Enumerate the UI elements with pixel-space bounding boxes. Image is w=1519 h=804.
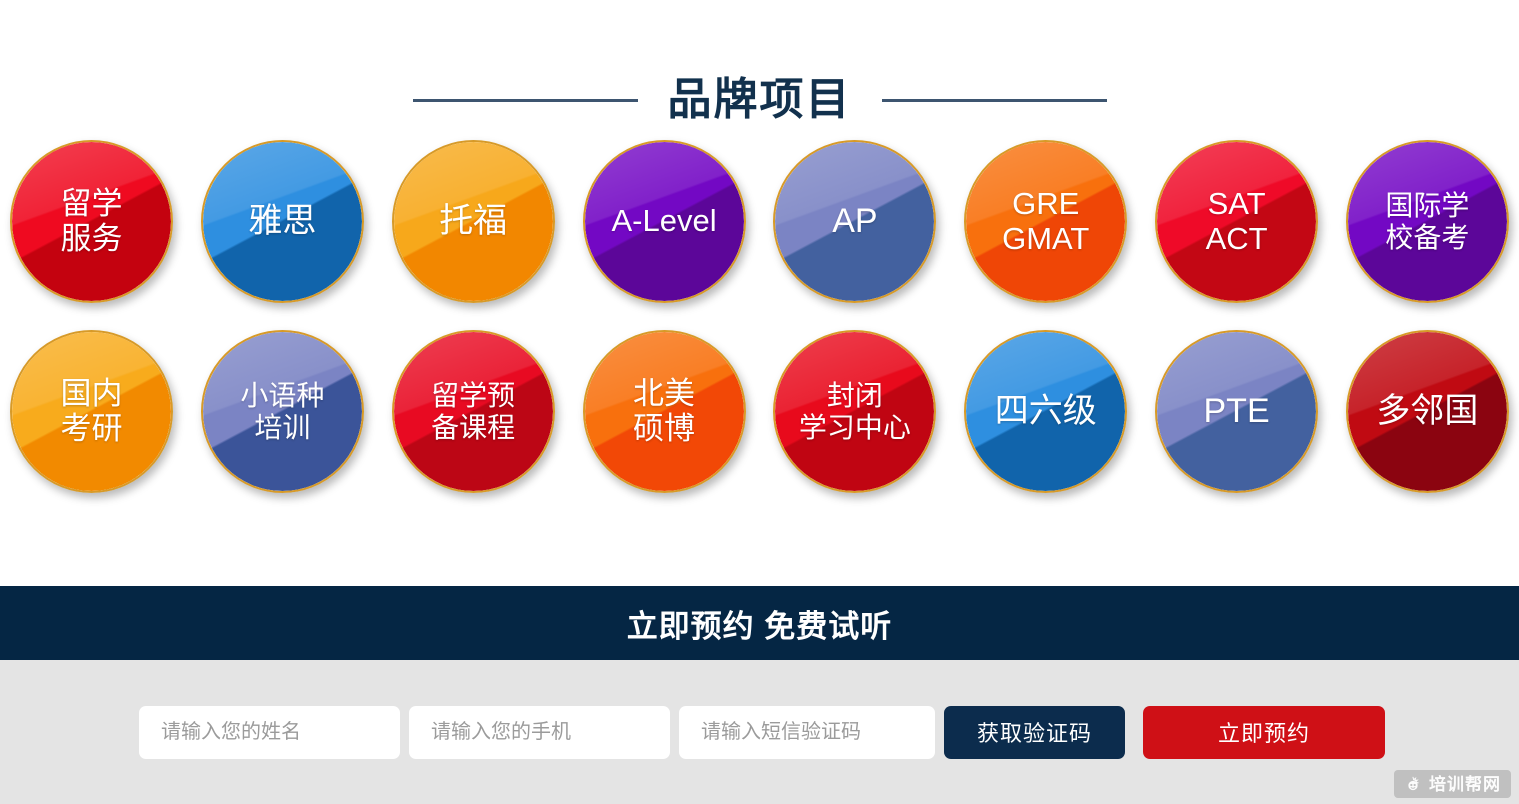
title-rule-left [413,99,638,102]
program-circle-label: 雅思 [242,202,322,240]
program-circle[interactable]: 小语种 培训 [201,330,364,493]
cta-banner: 立即预约 免费试听 [0,586,1519,660]
program-circle[interactable]: A-Level [583,140,746,303]
program-circle-label: GRE GMAT [996,187,1095,256]
program-row-1: 留学 服务雅思托福A-LevelAPGRE GMATSAT ACT国际学 校备考 [10,140,1509,303]
watermark-label: 培训帮网 [1429,776,1501,793]
program-circle-label: 留学预 备课程 [425,380,521,443]
phone-input[interactable] [409,706,670,759]
program-circle-label: SAT ACT [1200,187,1274,256]
program-circle-label: 国内 考研 [55,377,129,446]
program-circle-label: 四六级 [989,392,1103,430]
program-circle-label: AP [826,202,883,240]
sms-code-input[interactable] [679,706,935,759]
program-circle-label: 小语种 培训 [234,380,330,443]
program-circle-label: PTE [1198,392,1276,430]
program-circle[interactable]: 托福 [392,140,555,303]
program-circle[interactable]: 国内 考研 [10,330,173,493]
program-circle[interactable]: 国际学 校备考 [1346,140,1509,303]
program-circle[interactable]: 封闭 学习中心 [773,330,936,493]
program-circle-label: 国际学 校备考 [1379,190,1475,253]
program-circle[interactable]: 留学 服务 [10,140,173,303]
program-grid: 留学 服务雅思托福A-LevelAPGRE GMATSAT ACT国际学 校备考… [0,128,1519,493]
program-circle-label: 留学 服务 [55,187,129,256]
program-circle[interactable]: AP [773,140,936,303]
title-rule-right [882,99,1107,102]
eye-icon [1404,775,1422,793]
program-circle[interactable]: 四六级 [964,330,1127,493]
program-circle[interactable]: SAT ACT [1155,140,1318,303]
booking-form: 获取验证码 立即预约 [0,660,1519,804]
program-circle-label: A-Level [605,204,722,239]
get-code-button[interactable]: 获取验证码 [944,706,1125,759]
booking-form-fields: 获取验证码 立即预约 [0,660,1519,804]
program-circle-label: 托福 [433,202,513,240]
program-circle-label: 北美 硕博 [627,377,701,446]
submit-booking-button[interactable]: 立即预约 [1143,706,1385,759]
program-circle[interactable]: GRE GMAT [964,140,1127,303]
cta-banner-text: 立即预约 免费试听 [627,601,893,646]
program-circle-label: 多邻国 [1370,392,1484,430]
program-circle[interactable]: 多邻国 [1346,330,1509,493]
program-row-2: 国内 考研小语种 培训留学预 备课程北美 硕博封闭 学习中心四六级PTE多邻国 [10,330,1509,493]
name-input[interactable] [139,706,400,759]
program-circle[interactable]: 北美 硕博 [583,330,746,493]
program-circle[interactable]: PTE [1155,330,1318,493]
page-title: 品牌项目 [668,78,852,122]
program-circle-label: 封闭 学习中心 [793,380,917,443]
program-circle[interactable]: 留学预 备课程 [392,330,555,493]
page-title-bar: 品牌项目 [0,0,1519,128]
site-watermark: 培训帮网 [1394,770,1511,798]
program-circle[interactable]: 雅思 [201,140,364,303]
